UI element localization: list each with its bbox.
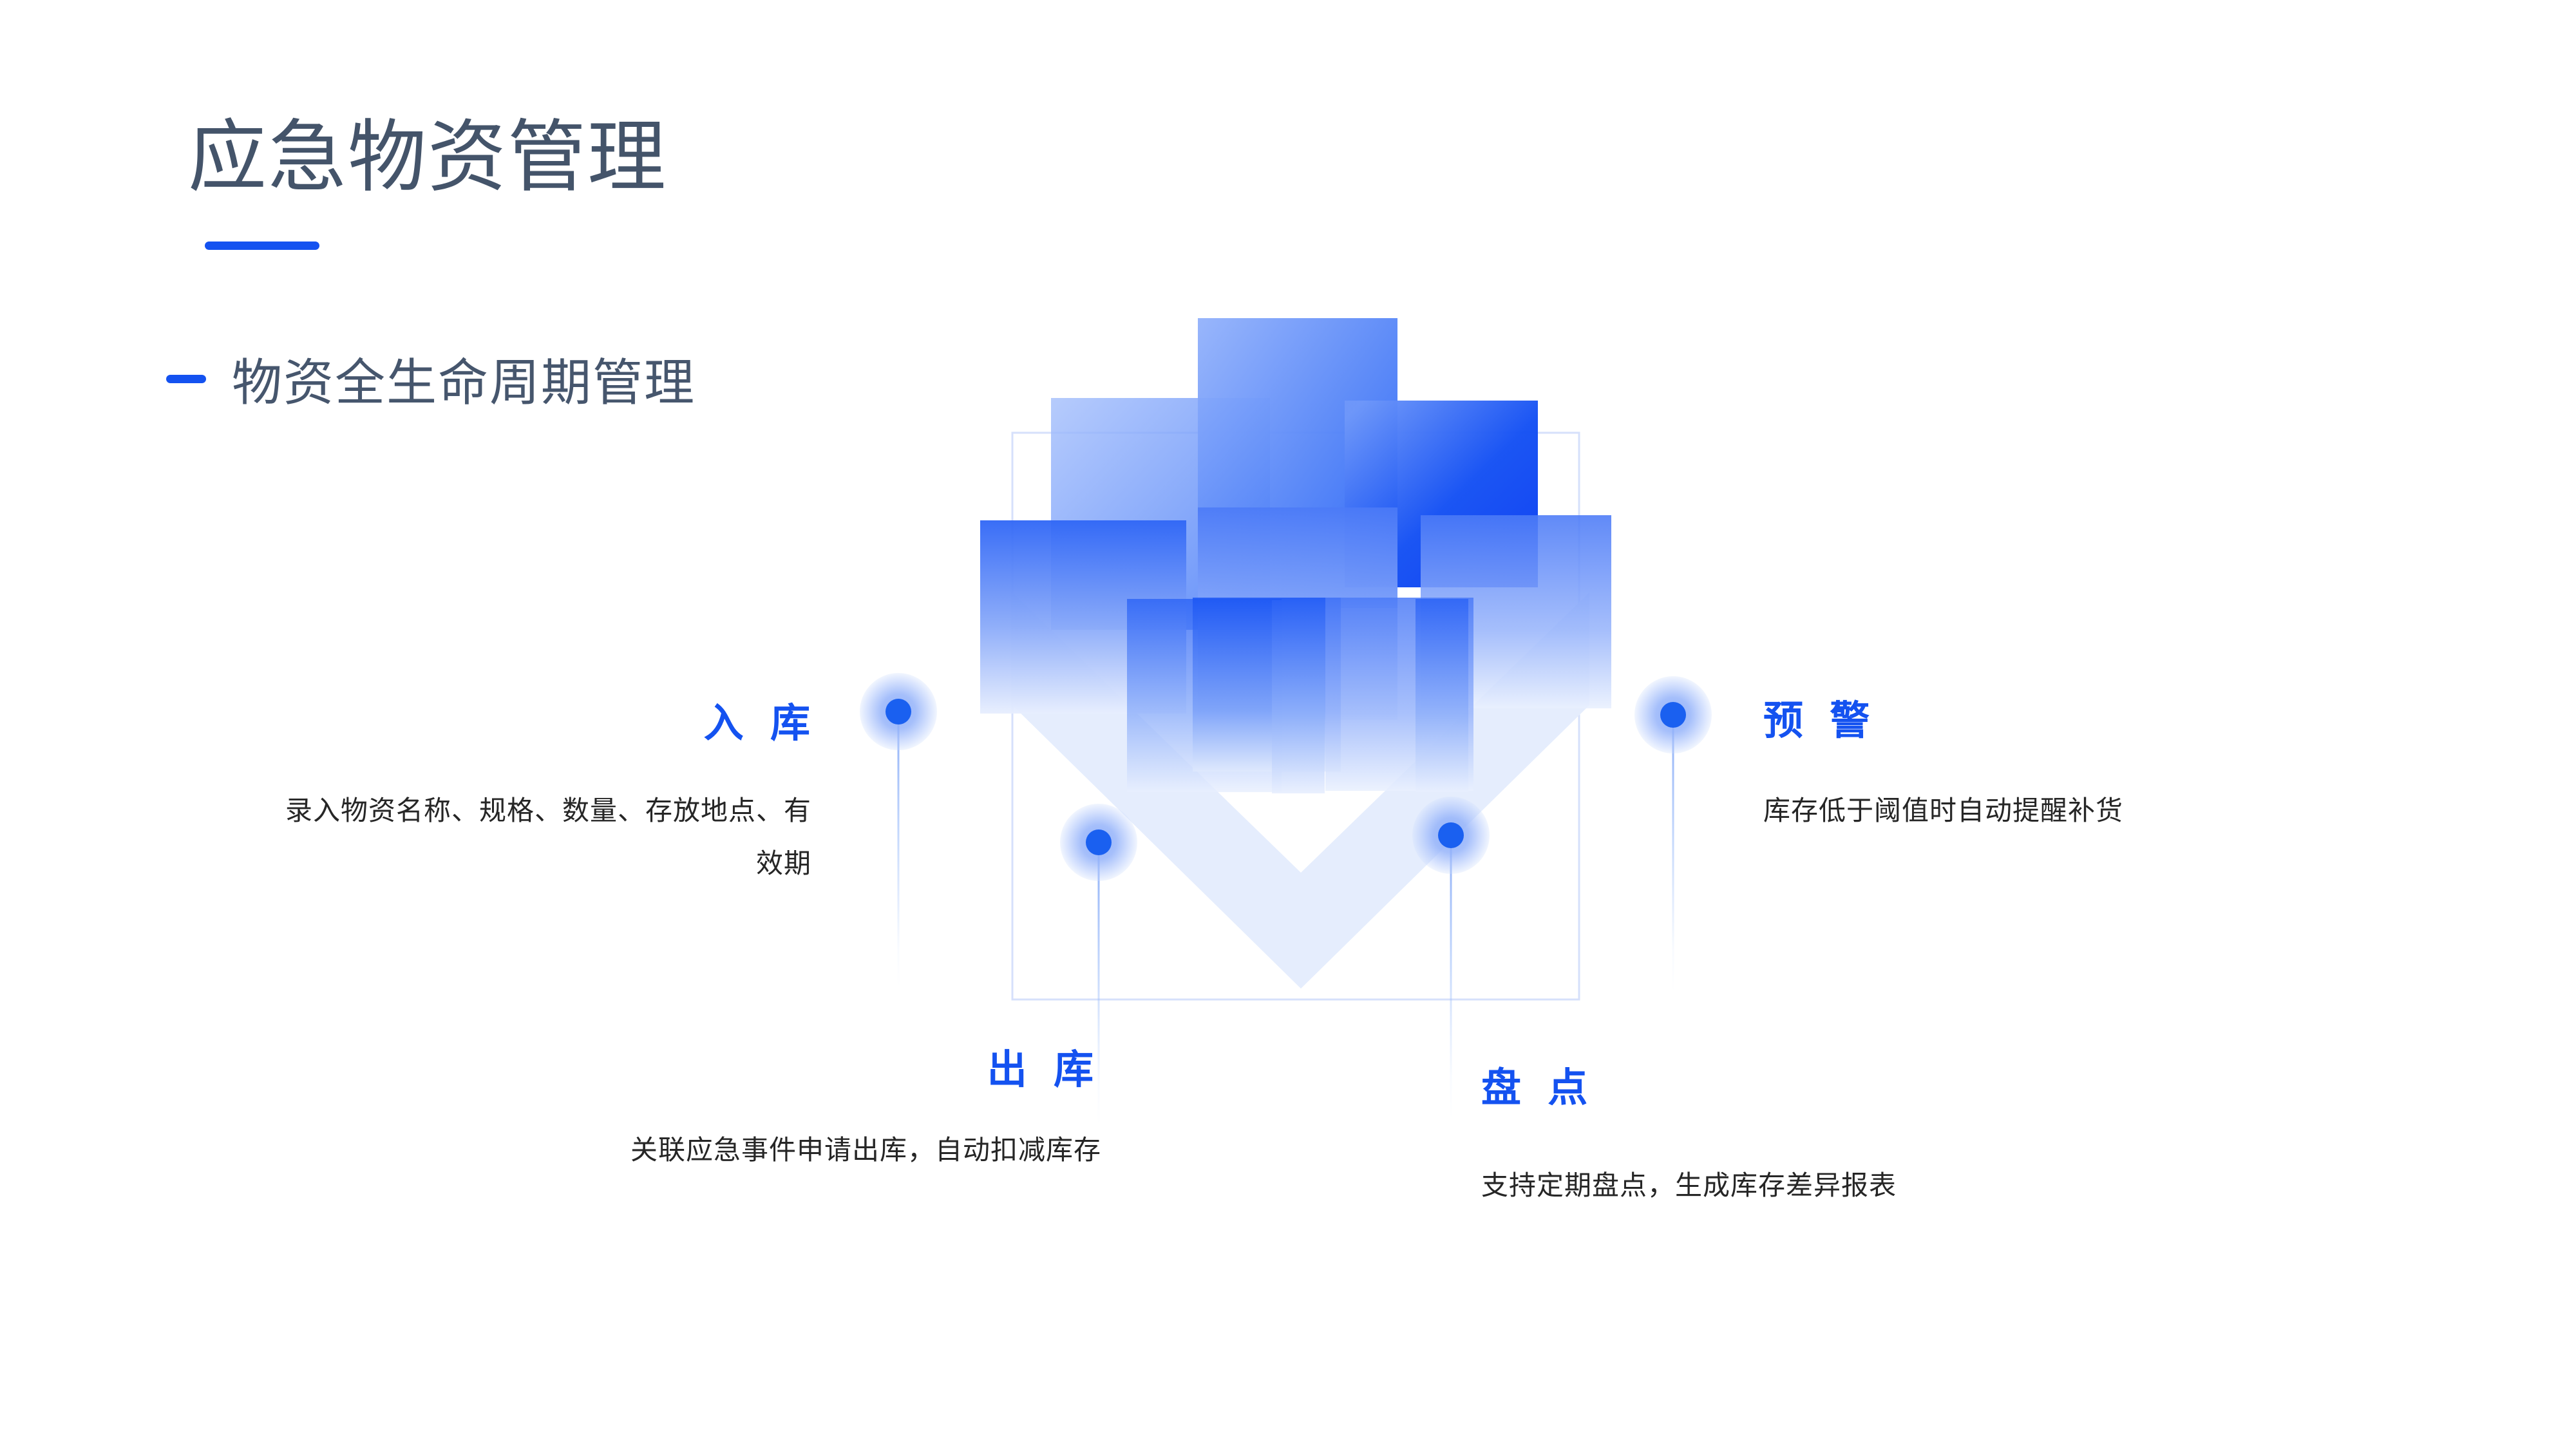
- slide-canvas: 应急物资管理 物资全生命周期管理: [0, 0, 2576, 1449]
- subtitle-text: 物资全生命周期管理: [232, 343, 696, 415]
- feature-title-outbound: 出 库: [987, 1037, 1101, 1095]
- feature-title-stocktake: 盘 点: [1481, 1055, 1595, 1113]
- page-title: 应急物资管理: [188, 113, 667, 204]
- feature-desc-outbound: 关联应急事件申请出库，自动扣减库存: [567, 1124, 1101, 1177]
- feature-desc-alert: 库存低于阈值时自动提醒补货: [1763, 784, 2233, 837]
- subtitle-row: 物资全生命周期管理: [166, 343, 696, 415]
- marker-core-icon: [1660, 702, 1686, 728]
- title-underline-accent: [205, 241, 319, 250]
- marker-glow-icon: [860, 673, 937, 750]
- lead-line-inbound: [898, 712, 900, 989]
- marker-core-icon: [885, 699, 911, 724]
- feature-title-inbound: 入 库: [704, 690, 818, 748]
- central-graphic: [953, 283, 1649, 1005]
- feature-desc-inbound: 录入物资名称、规格、数量、存放地点、有效期: [277, 784, 811, 890]
- feature-title-alert: 预 警: [1763, 688, 1877, 746]
- connector-dot-inbound[interactable]: [860, 673, 937, 750]
- block-low-bar: [1272, 600, 1325, 793]
- block-low-tall: [1416, 599, 1468, 792]
- dash-marker-icon: [166, 375, 206, 383]
- feature-desc-stocktake: 支持定期盘点，生成库存差异报表: [1481, 1159, 1951, 1212]
- lead-line-alert: [1672, 715, 1674, 992]
